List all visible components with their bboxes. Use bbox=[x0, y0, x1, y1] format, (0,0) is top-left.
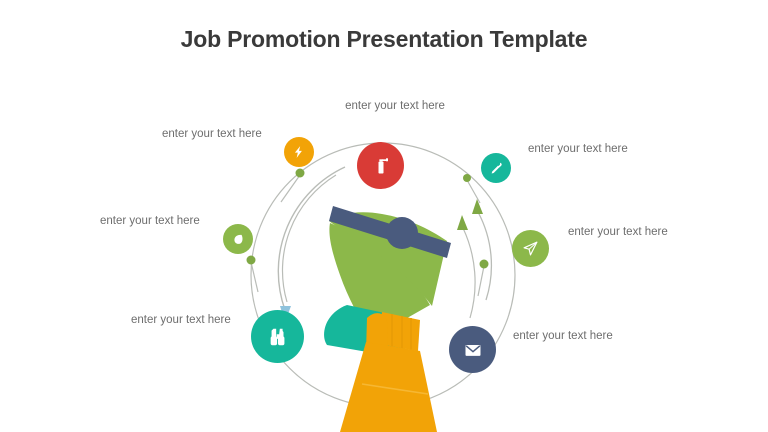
megaphone-knob bbox=[386, 217, 418, 249]
forearm bbox=[340, 342, 437, 432]
leaf-icon bbox=[231, 232, 245, 246]
label-text: enter your text here bbox=[131, 314, 231, 326]
label-lightning: enter your text here bbox=[162, 127, 266, 142]
label-text: enter your text here bbox=[345, 100, 445, 112]
inner-arc-left-tail bbox=[282, 175, 336, 302]
connector-dot-leaf bbox=[247, 256, 256, 265]
label-leaf: enter your text here bbox=[100, 214, 204, 229]
binoculars-icon bbox=[267, 326, 289, 348]
node-leaf[interactable] bbox=[223, 224, 253, 254]
node-eyedropper[interactable] bbox=[481, 153, 511, 183]
arrow-head-green-lower bbox=[457, 215, 468, 230]
label-text: enter your text here bbox=[100, 215, 200, 227]
label-text: enter your text here bbox=[568, 226, 668, 238]
label-text: enter your text here bbox=[528, 143, 628, 155]
label-paper-plane: enter your text here bbox=[568, 225, 672, 240]
node-paper-plane[interactable] bbox=[512, 230, 549, 267]
circular-infographic: enter your text here enter your text her… bbox=[0, 0, 768, 432]
envelope-icon bbox=[463, 340, 483, 360]
label-text: enter your text here bbox=[162, 128, 262, 140]
connector-dot-lightning bbox=[296, 169, 305, 178]
connector-dot-eyedropper bbox=[463, 174, 471, 182]
slide-canvas: Job Promotion Presentation Template bbox=[0, 0, 768, 432]
fire-extinguisher-icon bbox=[371, 156, 391, 176]
node-envelope[interactable] bbox=[449, 326, 496, 373]
label-binoculars: enter your text here bbox=[131, 313, 235, 328]
label-text: enter your text here bbox=[513, 330, 613, 342]
label-eyedropper: enter your text here bbox=[528, 142, 632, 157]
node-binoculars[interactable] bbox=[251, 310, 304, 363]
connector-plane bbox=[478, 266, 484, 296]
node-fire-extinguisher[interactable] bbox=[357, 142, 404, 189]
arrow-head-green-upper bbox=[472, 199, 483, 214]
lightning-bolt-icon bbox=[292, 145, 306, 159]
label-envelope: enter your text here bbox=[513, 329, 617, 344]
label-fire-extinguisher: enter your text here bbox=[343, 99, 447, 114]
node-lightning[interactable] bbox=[284, 137, 314, 167]
eyedropper-icon bbox=[489, 161, 503, 175]
inner-arc-right-2 bbox=[463, 228, 475, 318]
connector-dot-plane bbox=[480, 260, 489, 269]
paper-plane-icon bbox=[522, 240, 539, 257]
